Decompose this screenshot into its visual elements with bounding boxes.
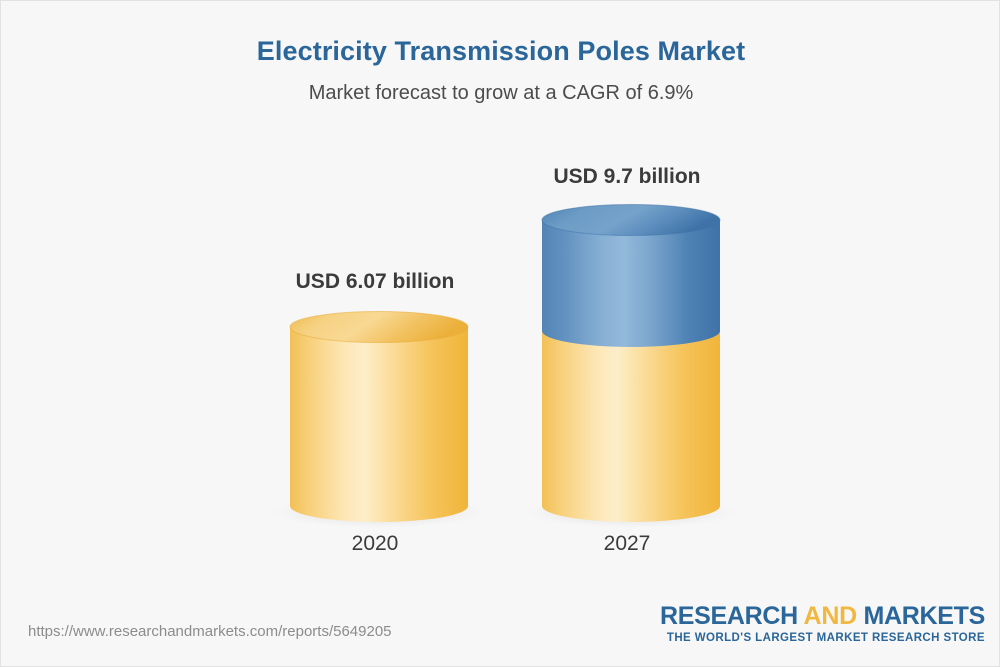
bar-2020[interactable] [290, 312, 468, 523]
bar-2020-body [290, 327, 468, 522]
value-label-2027: USD 9.7 billion [537, 165, 717, 189]
category-label-2020: 2020 [285, 532, 465, 556]
chart-canvas [1, 1, 1000, 667]
research-and-markets-logo[interactable]: RESEARCH AND MARKETS THE WORLD'S LARGEST… [660, 603, 985, 644]
value-label-2020: USD 6.07 billion [285, 270, 465, 294]
report-url[interactable]: https://www.researchandmarkets.com/repor… [28, 623, 392, 640]
bar-2027-base-segment [542, 331, 720, 522]
bar-2027-upper-segment [542, 220, 720, 347]
logo-word-markets: MARKETS [863, 602, 985, 630]
logo-tagline: THE WORLD'S LARGEST MARKET RESEARCH STOR… [660, 632, 985, 644]
logo-word-and: AND [798, 602, 864, 630]
category-label-2027: 2027 [537, 532, 717, 556]
logo-word-research: RESEARCH [660, 602, 798, 630]
infographic-card: Electricity Transmission Poles Market Ma… [0, 0, 1000, 667]
bar-2027[interactable] [542, 205, 720, 522]
logo-wordmark: RESEARCH AND MARKETS [660, 603, 985, 629]
bar-chart [1, 1, 1000, 667]
